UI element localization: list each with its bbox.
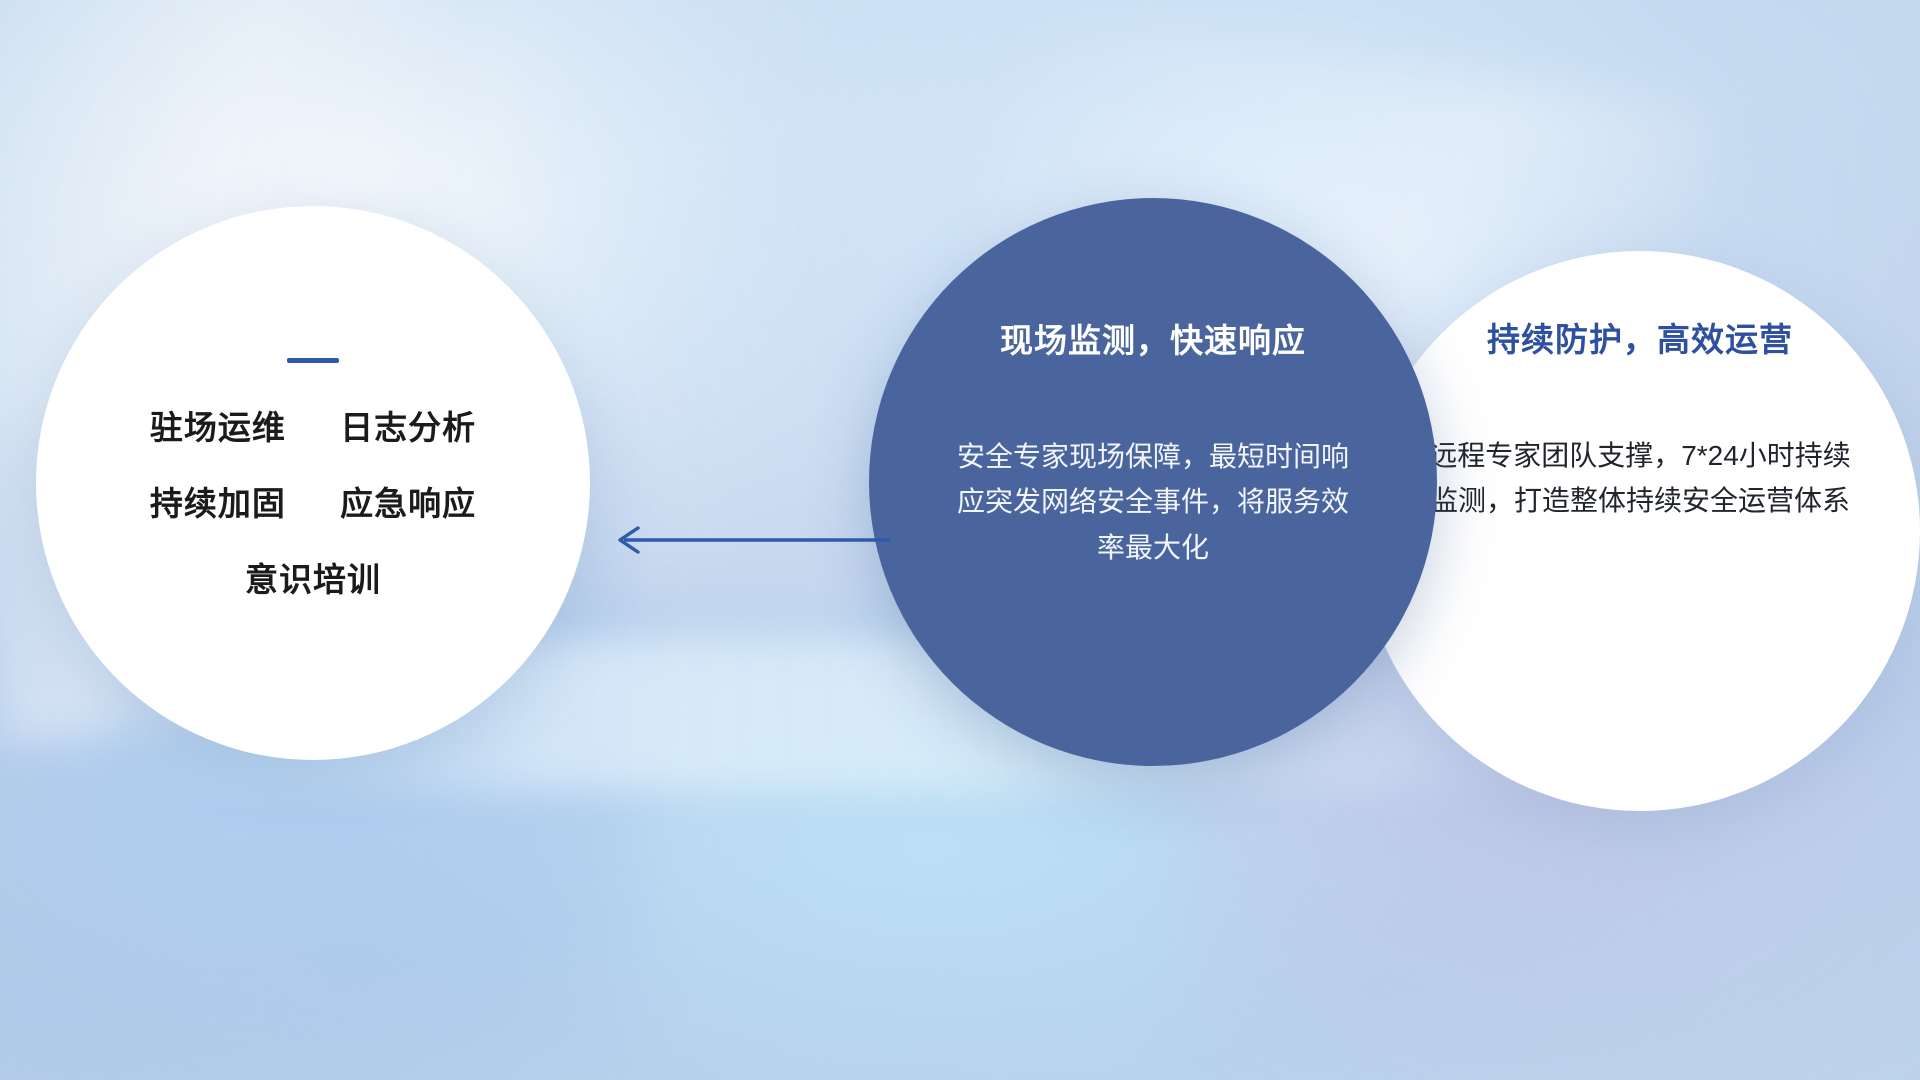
middle-circle-card: 现场监测，快速响应 安全专家现场保障，最短时间响应突发网络安全事件，将服务效率最… [869,198,1437,766]
flow-arrow-icon [602,522,892,558]
right-circle-content: 持续防护，高效运营 远程专家团队支撑，7*24小时持续监测，打造整体持续安全运营… [1360,313,1920,524]
keyword-label: 意识培训 [245,561,381,598]
middle-circle-heading: 现场监测，快速响应 [945,314,1361,362]
keyword-label: 持续加固 [150,485,286,522]
divider-dash-icon [287,358,339,363]
right-circle-body: 远程专家团队支撑，7*24小时持续监测，打造整体持续安全运营体系 [1416,433,1864,524]
keyword-row-3: 意识培训 [84,553,542,601]
middle-circle-body: 安全专家现场保障，最短时间响应突发网络安全事件，将服务效率最大化 [945,434,1361,570]
keyword-label: 应急响应 [340,485,476,522]
left-circle-content: 驻场运维 日志分析 持续加固 应急响应 意识培训 [36,358,590,601]
keyword-label: 日志分析 [340,409,476,446]
right-circle-heading: 持续防护，高效运营 [1416,313,1864,361]
left-circle-card: 驻场运维 日志分析 持续加固 应急响应 意识培训 [36,206,590,760]
middle-circle-content: 现场监测，快速响应 安全专家现场保障，最短时间响应突发网络安全事件，将服务效率最… [869,314,1437,570]
right-circle-card: 持续防护，高效运营 远程专家团队支撑，7*24小时持续监测，打造整体持续安全运营… [1360,251,1920,811]
diagram-canvas: 驻场运维 日志分析 持续加固 应急响应 意识培训 持续防护，高效运营 远程专家团… [0,0,1920,1080]
keyword-row-1: 驻场运维 日志分析 [84,401,542,449]
keyword-label: 驻场运维 [150,409,286,446]
keyword-row-2: 持续加固 应急响应 [84,477,542,525]
